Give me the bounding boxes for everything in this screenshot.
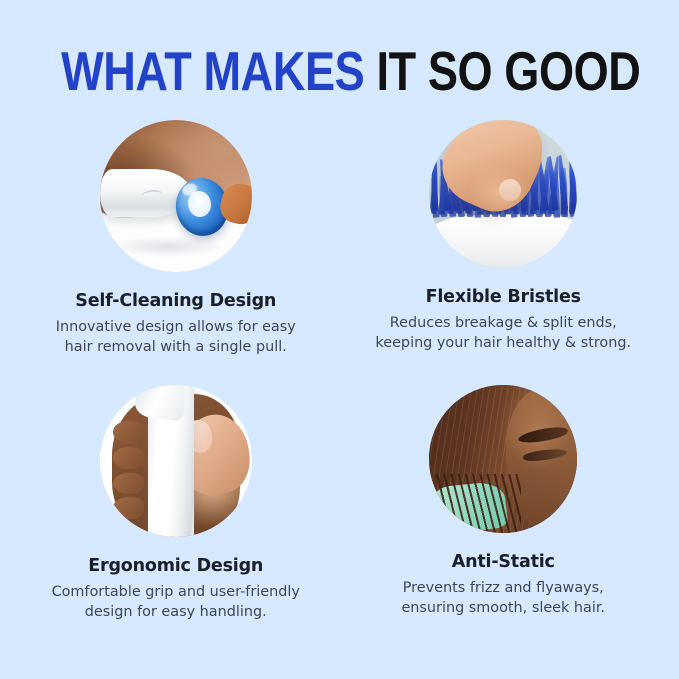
feature-title: Anti-Static: [452, 552, 555, 572]
feature-card-ergonomic-design: Ergonomic Design Comfortable grip and us…: [18, 385, 334, 622]
feature-card-flexible-bristles: Flexible Bristles Reduces breakage & spl…: [346, 120, 662, 357]
finger-shape-4: [113, 497, 143, 518]
feature-description-line2: design for easy handling.: [85, 604, 267, 620]
finger-shape-1: [113, 421, 143, 442]
page-title-black: IT SO GOOD: [376, 40, 640, 102]
feature-description: Comfortable grip and user-friendly desig…: [52, 582, 300, 622]
flexible-bristles-image: [429, 120, 577, 268]
feature-grid: Self-Cleaning Design Innovative design a…: [18, 120, 661, 622]
feature-card-anti-static: Anti-Static Prevents frizz and flyaways,…: [346, 385, 662, 622]
anti-static-image: [429, 385, 577, 533]
page-title-blue: WHAT MAKES: [61, 40, 364, 102]
feature-description: Prevents frizz and flyaways, ensuring sm…: [401, 578, 605, 618]
hair-over-brush-texture: [429, 474, 521, 533]
feature-description: Innovative design allows for easy hair r…: [56, 317, 296, 357]
page-title: WHAT MAKES IT SO GOOD: [61, 42, 618, 100]
drop-shadow-shape: [112, 236, 224, 257]
infographic-page: WHAT MAKES IT SO GOOD Self-Cleaning Desi…: [0, 0, 679, 679]
feature-description-line1: Reduces breakage & split ends,: [390, 315, 617, 331]
feature-title: Ergonomic Design: [88, 556, 263, 576]
feature-description-line1: Innovative design allows for easy: [56, 319, 296, 335]
feature-title: Self-Cleaning Design: [75, 291, 276, 311]
feature-description-line2: hair removal with a single pull.: [65, 339, 287, 355]
feature-description-line1: Prevents frizz and flyaways,: [403, 580, 604, 596]
feature-description: Reduces breakage & split ends, keeping y…: [375, 313, 631, 353]
feature-description-line2: ensuring smooth, sleek hair.: [401, 600, 605, 616]
feature-title: Flexible Bristles: [426, 287, 581, 307]
feature-description-line1: Comfortable grip and user-friendly: [52, 584, 300, 600]
finger-shape-3: [113, 473, 143, 494]
ergonomic-design-image: [100, 385, 252, 537]
self-cleaning-image: [100, 120, 252, 272]
feature-card-self-cleaning: Self-Cleaning Design Innovative design a…: [18, 120, 334, 357]
finger-shape-2: [113, 447, 143, 468]
feature-description-line2: keeping your hair healthy & strong.: [375, 335, 631, 351]
